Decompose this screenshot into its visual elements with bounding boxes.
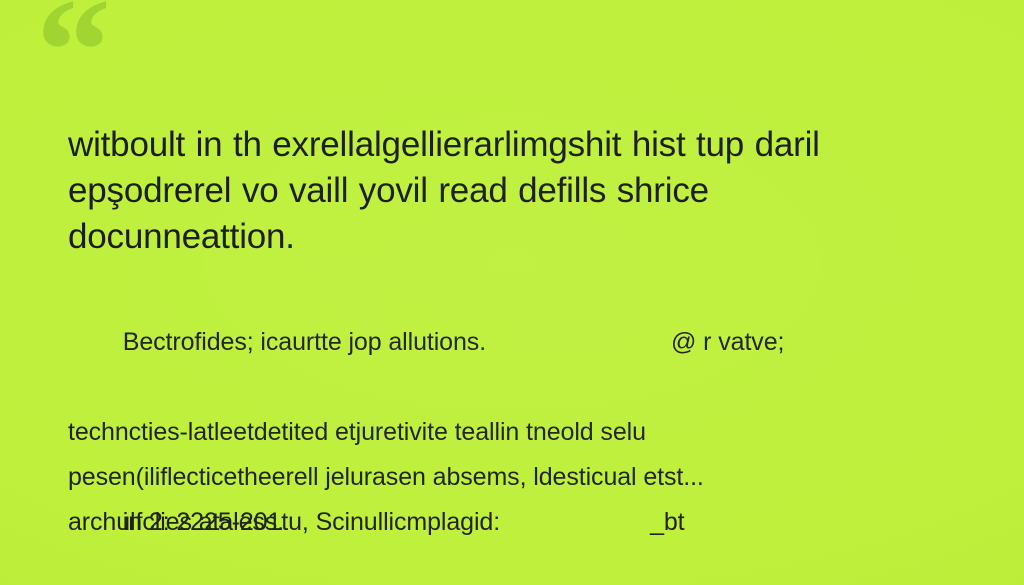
headline: witboult in th exrellalgellierarlimgshit… <box>68 122 968 260</box>
meta-paragraph: in 2: 2225-201tu, Scinullicmplagid:_bt h… <box>68 455 978 585</box>
quote-card: “ witboult in th exrellalgellierarlimgsh… <box>0 0 1024 585</box>
headline-line: epşodrerel vo vaill yovil read defills s… <box>68 168 968 214</box>
meta-line-text: in 2: 2225-201tu, Scinullicmplagid: <box>123 508 500 536</box>
meta-line: in 2: 2225-201tu, Scinullicmplagid:_bt <box>68 455 978 585</box>
body-line: techncties-latleetdetited etjuretivite t… <box>68 410 978 455</box>
headline-line: docunneattion. <box>68 214 968 260</box>
body-line: Bectrofides; icaurtte jop allutions.@ r … <box>68 275 978 410</box>
card-inner: “ witboult in th exrellalgellierarlimgsh… <box>0 0 1024 585</box>
quote-mark-icon: “ <box>36 0 109 126</box>
meta-line-text-trailing: _bt <box>650 508 684 536</box>
body-line-text-trailing: @ r vatve; <box>671 328 784 356</box>
headline-line: witboult in th exrellalgellierarlimgshit… <box>68 122 968 168</box>
body-line-text: Bectrofides; icaurtte jop allutions. <box>123 328 486 356</box>
